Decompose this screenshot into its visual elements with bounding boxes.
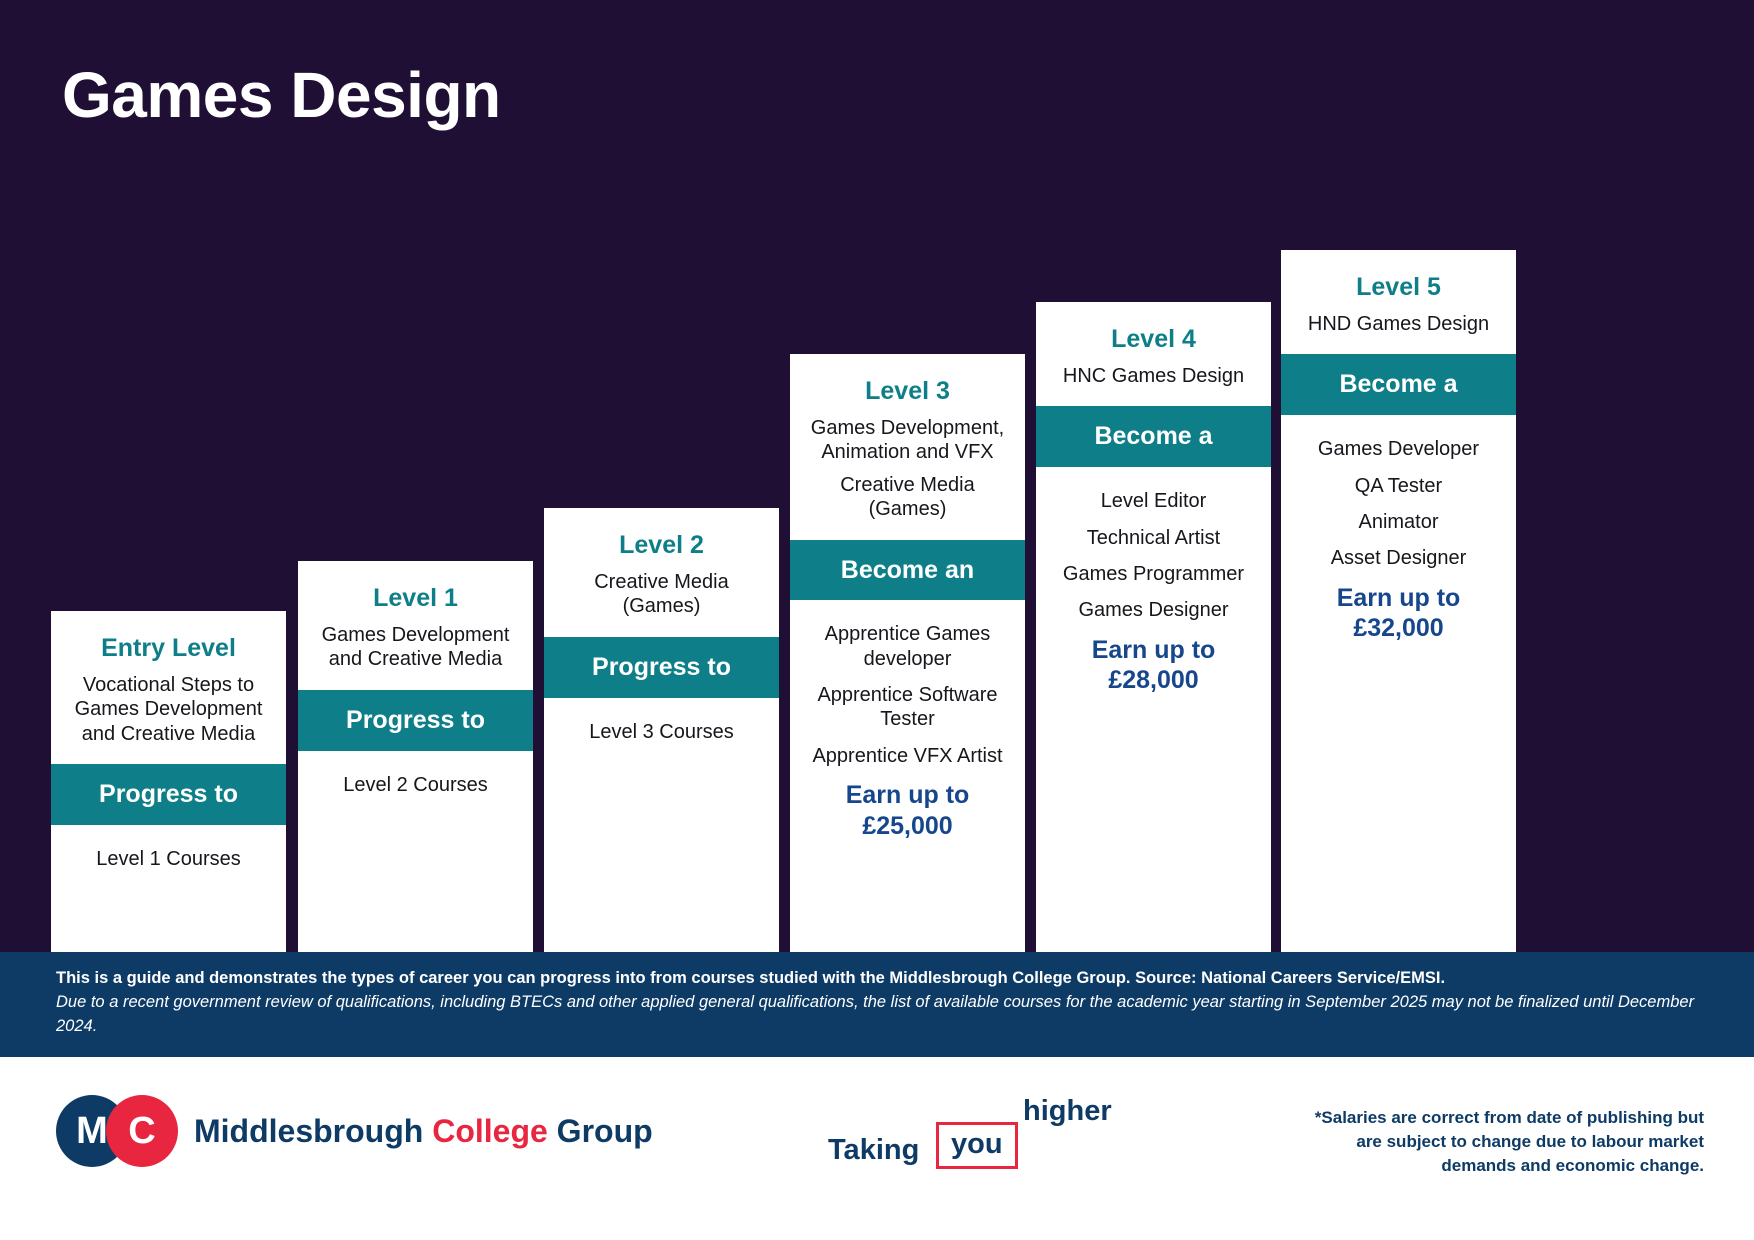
progression-band: Progress to — [298, 690, 533, 751]
column-header: Level 5 HND Games Design — [1281, 250, 1516, 354]
level-title: Level 2 — [554, 530, 769, 560]
progression-ladder: Entry Level Vocational Steps to Games De… — [0, 0, 1754, 952]
column-header: Level 1 Games Development and Creative M… — [298, 561, 533, 690]
course-name: HNC Games Design — [1046, 364, 1261, 388]
course-name: HND Games Design — [1291, 312, 1506, 336]
progression-band: Become a — [1281, 354, 1516, 415]
column-body: Games Developer QA Tester Animator Asset… — [1281, 415, 1516, 952]
career-item: Technical Artist — [1046, 526, 1261, 550]
salary-footnote: *Salaries are correct from date of publi… — [1304, 1106, 1704, 1178]
course-name: Creative Media (Games) — [554, 570, 769, 619]
level-title: Entry Level — [61, 633, 276, 663]
infographic-page: Games Design Entry Level Vocational Step… — [0, 0, 1754, 1240]
career-item: Apprentice Software Tester — [800, 683, 1015, 732]
logo-mark: M C — [56, 1095, 178, 1167]
column-header: Level 2 Creative Media (Games) — [544, 508, 779, 637]
progression-band: Progress to — [51, 764, 286, 825]
progression-item: Level 3 Courses — [554, 720, 769, 744]
column-header: Level 3 Games Development, Animation and… — [790, 354, 1025, 540]
salary-label: Earn up to £32,000 — [1291, 583, 1506, 644]
level-column-4: Level 4 HNC Games Design Become a Level … — [1036, 302, 1271, 952]
career-item: Apprentice VFX Artist — [800, 744, 1015, 768]
level-column-5: Level 5 HND Games Design Become a Games … — [1281, 250, 1516, 952]
level-title: Level 5 — [1291, 272, 1506, 302]
career-item: Apprentice Games developer — [800, 622, 1015, 671]
higher-word: higher — [1023, 1095, 1112, 1128]
disclaimer-line-2: Due to a recent government review of qua… — [56, 991, 1698, 1039]
level-column-3: Level 3 Games Development, Animation and… — [790, 354, 1025, 952]
level-column-2: Level 2 Creative Media (Games) Progress … — [544, 508, 779, 952]
course-name: Vocational Steps to Games Development an… — [61, 673, 276, 746]
career-item: Games Designer — [1046, 598, 1261, 622]
progression-item: Level 1 Courses — [61, 847, 276, 871]
level-title: Level 3 — [800, 376, 1015, 406]
you-word: you — [951, 1128, 1003, 1160]
progression-band: Become a — [1036, 406, 1271, 467]
level-column-1: Level 1 Games Development and Creative M… — [298, 561, 533, 952]
progression-item: Level 2 Courses — [308, 773, 523, 797]
middlesbrough-college-logo: M C Middlesbrough College Group — [56, 1095, 653, 1167]
logo-wordmark: Middlesbrough College Group — [194, 1113, 653, 1150]
course-name: Creative Media (Games) — [800, 473, 1015, 522]
taking-word: Taking — [828, 1134, 919, 1167]
career-item: Asset Designer — [1291, 546, 1506, 570]
disclaimer-band: This is a guide and demonstrates the typ… — [0, 952, 1754, 1057]
column-body: Level Editor Technical Artist Games Prog… — [1036, 467, 1271, 952]
column-body: Level 3 Courses — [544, 698, 779, 952]
career-item: Games Programmer — [1046, 562, 1261, 586]
logo-word-middlesbrough: Middlesbrough — [194, 1113, 423, 1149]
disclaimer-line-1: This is a guide and demonstrates the typ… — [56, 967, 1698, 991]
logo-word-group: Group — [557, 1113, 653, 1149]
progression-band: Progress to — [544, 637, 779, 698]
level-title: Level 1 — [308, 583, 523, 613]
column-body: Level 2 Courses — [298, 751, 533, 952]
logo-circle-c-icon: C — [106, 1095, 178, 1167]
level-column-entry: Entry Level Vocational Steps to Games De… — [51, 611, 286, 952]
progression-band: Become an — [790, 540, 1025, 601]
salary-label: Earn up to £25,000 — [800, 780, 1015, 841]
column-header: Level 4 HNC Games Design — [1036, 302, 1271, 406]
course-name: Games Development, Animation and VFX — [800, 416, 1015, 465]
column-body: Level 1 Courses — [51, 825, 286, 952]
taking-you-higher-logo: Taking you higher — [828, 1095, 1058, 1169]
column-header: Entry Level Vocational Steps to Games De… — [51, 611, 286, 764]
career-item: QA Tester — [1291, 474, 1506, 498]
career-item: Animator — [1291, 510, 1506, 534]
career-item: Games Developer — [1291, 437, 1506, 461]
column-body: Apprentice Games developer Apprentice So… — [790, 600, 1025, 952]
level-title: Level 4 — [1046, 324, 1261, 354]
course-name: Games Development and Creative Media — [308, 623, 523, 672]
career-item: Level Editor — [1046, 489, 1261, 513]
salary-label: Earn up to £28,000 — [1046, 635, 1261, 696]
logo-word-college: College — [432, 1113, 548, 1149]
you-box: you — [936, 1122, 1018, 1169]
